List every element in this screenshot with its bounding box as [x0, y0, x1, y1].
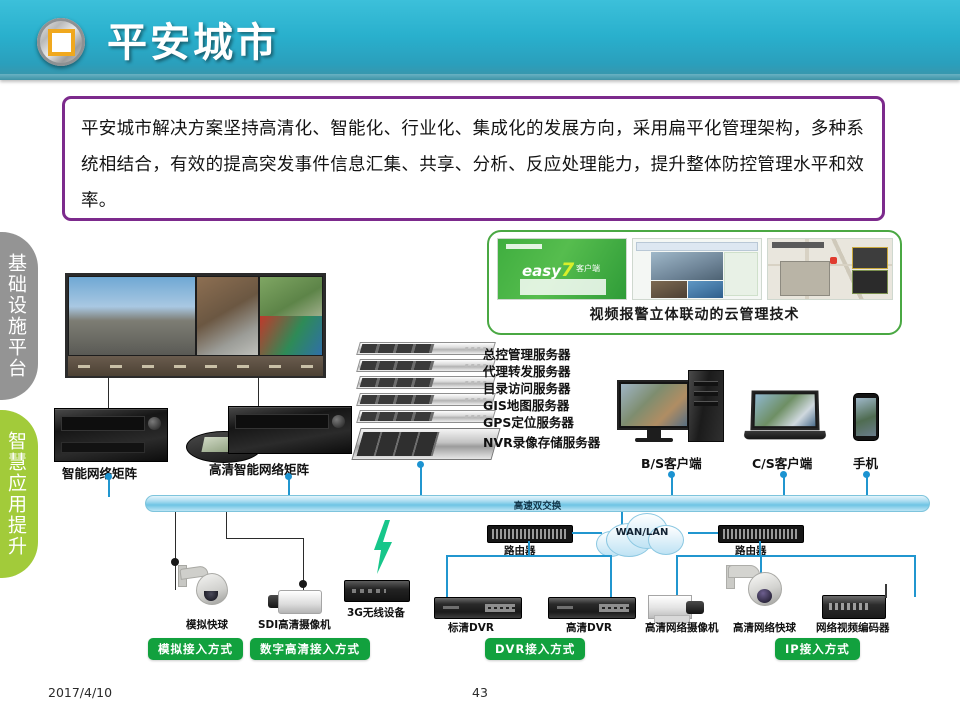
server-bays	[360, 412, 435, 421]
server-unit	[356, 342, 496, 355]
device-label: 标清DVR	[448, 620, 494, 635]
analog-ptz-camera	[180, 565, 226, 607]
matrix-knob	[148, 417, 161, 430]
connector-line	[676, 555, 916, 557]
matrix-1-label: 智能网络矩阵	[62, 463, 137, 482]
vw-led	[301, 365, 313, 368]
storage-array-unit	[351, 428, 500, 460]
map-pin-icon	[830, 257, 837, 264]
camera-lens	[686, 601, 704, 614]
hd-network-ptz-dome	[728, 565, 780, 611]
device-label: 3G无线设备	[347, 605, 405, 620]
dvr-brand	[557, 606, 573, 609]
map-side-panel-a	[852, 247, 888, 269]
connector-line	[226, 538, 304, 539]
server-bays	[360, 361, 435, 370]
vw-led	[269, 365, 281, 368]
map-popup-thumbnail	[780, 261, 830, 296]
architecture-diagram: easy7 客户端 视频报警立体联动的云管理技术	[0, 225, 960, 675]
connector-dot	[863, 471, 870, 478]
cloud-management-panel: easy7 客户端 视频报警立体联动的云管理技术	[487, 230, 902, 335]
monitor-foot	[635, 438, 673, 442]
vw-led	[142, 365, 154, 368]
badge-digital-hd-access: 数字高清接入方式	[250, 638, 370, 660]
encoder-antenna	[885, 584, 887, 598]
device-label: 高清网络快球	[733, 620, 796, 635]
connector-dot	[299, 580, 307, 588]
badge-dvr-access: DVR接入方式	[485, 638, 585, 660]
device-label: 网络视频编码器	[816, 620, 890, 635]
video-wall-cell-park	[260, 277, 322, 316]
connector-dot	[417, 461, 424, 468]
connector-line	[108, 477, 110, 497]
video-wall-cell-parking	[196, 276, 260, 356]
tower-slot	[694, 401, 718, 406]
server-label: NVR录像存储服务器	[483, 432, 600, 451]
bs-client-monitor	[617, 380, 691, 430]
square-badge-icon	[37, 18, 85, 66]
server-bays	[360, 395, 435, 404]
connector-line	[610, 555, 612, 597]
server-unit	[356, 393, 496, 406]
camera-body	[278, 590, 322, 614]
logo-inner-square	[48, 29, 75, 56]
tower-slot	[694, 391, 718, 396]
high-speed-switch-bus: 高速双交换	[145, 495, 930, 512]
network-video-encoder	[822, 595, 886, 619]
connector-line	[783, 475, 785, 497]
connector-line	[175, 512, 176, 590]
dvr-keys	[599, 604, 629, 612]
vw-led	[110, 365, 122, 368]
video-wall-cell-highway	[260, 316, 322, 355]
connector-line	[226, 512, 227, 538]
connector-line	[688, 532, 720, 534]
server-unit	[356, 359, 496, 372]
dvr-keys	[485, 604, 515, 612]
server-unit	[356, 410, 496, 423]
laptop-screen	[755, 394, 816, 426]
device-label: SDI高清摄像机	[258, 617, 331, 632]
login-form	[520, 279, 606, 295]
matrix-2-label: 高清智能网络矩阵	[209, 459, 309, 478]
badge-analog-access: 模拟接入方式	[148, 638, 243, 660]
video-tile-2	[651, 281, 687, 298]
video-wall-cell-city	[68, 276, 196, 356]
network-matrix-device	[54, 408, 168, 462]
camera-lens	[757, 589, 772, 603]
connector-line	[258, 378, 259, 408]
bus-label: 高速双交换	[146, 498, 929, 512]
vw-led	[205, 365, 217, 368]
router-ports	[723, 529, 799, 539]
server-label: GPS定位服务器	[483, 412, 574, 431]
server-bays	[360, 344, 435, 353]
video-surveillance-screenshot	[632, 238, 762, 300]
badge-ip-access: IP接入方式	[775, 638, 860, 660]
connector-dot	[668, 471, 675, 478]
vendor-logo-icon	[506, 244, 542, 249]
bs-client-label: B/S客户端	[641, 453, 702, 472]
slide-header: 平安城市	[0, 0, 960, 80]
mobile-label: 手机	[853, 453, 878, 472]
side-panel	[724, 252, 758, 296]
video-wall-base	[68, 356, 323, 376]
easy7-client-label: 客户端	[576, 263, 600, 274]
mobile-phone	[853, 393, 879, 441]
server-bays	[360, 378, 435, 387]
connector-dot	[780, 471, 787, 478]
connector-line	[420, 465, 422, 497]
video-tile-3	[688, 281, 723, 298]
device-ports	[352, 589, 386, 593]
easy7-brand: easy7	[522, 259, 574, 281]
vw-led	[174, 365, 186, 368]
wan-lan-label: WAN/LAN	[596, 527, 688, 538]
wan-lan-cloud: WAN/LAN	[596, 509, 688, 561]
gis-map-screenshot	[767, 238, 893, 300]
map-side-panel-b	[852, 270, 888, 294]
cloud-panel-caption: 视频报警立体联动的云管理技术	[489, 304, 900, 324]
router-ports	[492, 529, 568, 539]
hd-network-matrix-device	[228, 406, 352, 454]
connector-dot	[105, 473, 112, 480]
toolbar-strip	[636, 242, 758, 251]
description-text: 平安城市解决方案坚持高清化、智能化、行业化、集成化的发展方向，采用扁平化管理架构…	[81, 111, 866, 219]
description-box: 平安城市解决方案坚持高清化、智能化、行业化、集成化的发展方向，采用扁平化管理架构…	[62, 96, 885, 221]
storage-bays	[357, 432, 440, 456]
map-header-strip	[772, 242, 824, 248]
sdi-hd-camera	[268, 590, 320, 614]
device-label: 模拟快球	[186, 617, 228, 632]
standard-dvr	[434, 597, 522, 619]
tower-slot	[694, 381, 718, 386]
monitor-screen	[621, 384, 687, 426]
phone-screen	[856, 398, 876, 436]
matrix-front-panel	[235, 414, 329, 429]
wireless-signal-icon	[370, 520, 394, 574]
footer-page-number: 43	[0, 685, 960, 700]
page-title: 平安城市	[107, 10, 279, 68]
video-wall-grid	[68, 276, 323, 356]
connector-line	[759, 541, 761, 555]
connector-line	[914, 555, 916, 597]
video-tile-1	[651, 252, 723, 280]
device-label: 高清网络摄像机	[645, 620, 719, 635]
connector-line	[108, 378, 109, 408]
matrix-knob	[332, 415, 345, 428]
video-wall	[65, 273, 326, 378]
hd-dvr	[548, 597, 636, 619]
connector-line	[528, 541, 530, 555]
encoder-ports	[829, 603, 869, 610]
vw-led	[78, 365, 90, 368]
bs-client-tower	[688, 370, 724, 442]
connector-line	[671, 475, 673, 497]
connector-line	[446, 555, 448, 597]
easy7-login-screenshot: easy7 客户端	[497, 238, 627, 300]
router-right	[718, 525, 804, 543]
matrix-lower-panel	[61, 442, 145, 453]
matrix-front-panel	[61, 416, 145, 431]
cs-client-label: C/S客户端	[752, 453, 812, 472]
laptop-lid	[750, 390, 819, 430]
dvr-brand	[443, 606, 459, 609]
connector-line	[446, 555, 611, 557]
connector-line	[676, 555, 678, 597]
server-unit	[356, 376, 496, 389]
laptop-base	[743, 431, 827, 439]
wireless-3g-device	[344, 580, 410, 602]
router-left	[487, 525, 573, 543]
connector-dot	[285, 473, 292, 480]
cs-client-laptop	[744, 390, 826, 444]
hd-network-camera	[648, 595, 706, 623]
cloud-screenshots: easy7 客户端	[497, 238, 894, 300]
connector-line	[288, 477, 290, 497]
device-label: 高清DVR	[566, 620, 612, 635]
video-wall-cell-column	[259, 276, 323, 356]
vw-led	[237, 365, 249, 368]
connector-line	[866, 475, 868, 497]
